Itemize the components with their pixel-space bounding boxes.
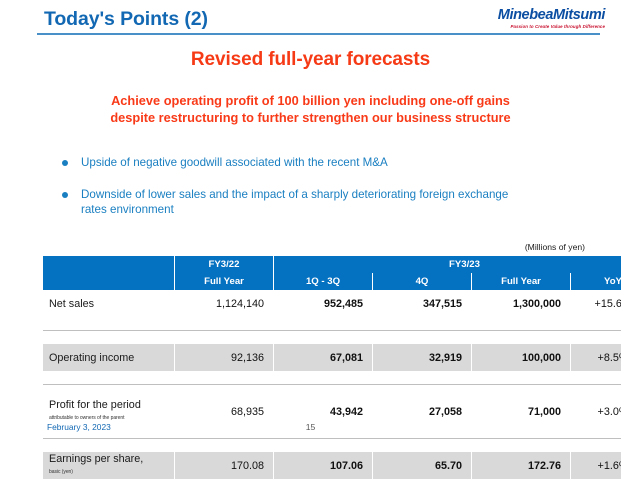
- table-body: Net sales 1,124,140 952,485 347,515 1,30…: [43, 290, 621, 479]
- row-label: Profit for the period attributable to ow…: [43, 398, 174, 425]
- table-row-separator: [43, 317, 621, 344]
- bullet-text: Downside of lower sales and the impact o…: [81, 187, 536, 218]
- row-label-text: Earnings per share,: [49, 453, 143, 465]
- cell-fy23-full-year: 100,000: [472, 344, 570, 371]
- column-header-fy22-group: FY3/22: [175, 256, 273, 273]
- company-logo: MinebeaMitsumi Passion to Create Value t…: [498, 8, 605, 29]
- bullet-list: Upside of negative goodwill associated w…: [62, 155, 562, 234]
- row-label-text: Net sales: [49, 298, 94, 310]
- row-label: Net sales: [43, 290, 174, 317]
- row-label-text: Profit for the period: [49, 399, 141, 411]
- column-header-blank: [43, 256, 174, 290]
- cell-fy22-full-year: 92,136: [175, 344, 273, 371]
- column-header-fy22-full-year: Full Year: [175, 273, 273, 290]
- footer-page-number: 15: [0, 422, 621, 432]
- row-label: Earnings per share, basic (yen): [43, 452, 174, 479]
- title-divider: [37, 33, 600, 35]
- main-heading: Revised full-year forecasts: [0, 49, 621, 71]
- cell-fy22-full-year: 1,124,140: [175, 290, 273, 317]
- slide: Today's Points (2) MinebeaMitsumi Passio…: [0, 0, 621, 438]
- sub-heading-line-1: Achieve operating profit of 100 billion …: [111, 93, 510, 108]
- cell-yoy: +1.6%: [571, 452, 621, 479]
- cell-fy23-4q: 32,919: [373, 344, 471, 371]
- column-header-1q-3q: 1Q - 3Q: [274, 273, 372, 290]
- cell-fy23-1q-3q: 43,942: [274, 398, 372, 425]
- cell-fy23-4q: 27,058: [373, 398, 471, 425]
- sub-heading-line-2: despite restructuring to further strengt…: [0, 109, 621, 126]
- bullet-dot-icon: [62, 160, 68, 166]
- table-row: Operating income 92,136 67,081 32,919 10…: [43, 344, 621, 371]
- cell-fy23-1q-3q: 67,081: [274, 344, 372, 371]
- page-title: Today's Points (2): [44, 8, 208, 31]
- cell-yoy: +15.6%: [571, 290, 621, 317]
- table-row: Earnings per share, basic (yen) 170.08 1…: [43, 452, 621, 479]
- cell-fy22-full-year: 170.08: [175, 452, 273, 479]
- table-row: Net sales 1,124,140 952,485 347,515 1,30…: [43, 290, 621, 317]
- units-label: (Millions of yen): [525, 242, 585, 252]
- cell-fy23-full-year: 172.76: [472, 452, 570, 479]
- row-label: Operating income: [43, 344, 174, 371]
- bullet-dot-icon: [62, 192, 68, 198]
- column-header-full-year: Full Year: [472, 273, 570, 290]
- row-label-text: Operating income: [49, 352, 134, 364]
- logo-tagline: Passion to Create Value through Differen…: [498, 25, 605, 29]
- slide-header: Today's Points (2) MinebeaMitsumi Passio…: [0, 0, 621, 38]
- cell-yoy: +8.5%: [571, 344, 621, 371]
- bullet-text: Upside of negative goodwill associated w…: [81, 155, 388, 171]
- table-row: Profit for the period attributable to ow…: [43, 398, 621, 425]
- cell-fy23-4q: 65.70: [373, 452, 471, 479]
- cell-yoy: +3.0%: [571, 398, 621, 425]
- cell-fy23-1q-3q: 107.06: [274, 452, 372, 479]
- cell-fy22-full-year: 68,935: [175, 398, 273, 425]
- column-header-fy23-group: FY3/23: [274, 256, 621, 273]
- table-header: FY3/22 FY3/23 Full Year 1Q - 3Q 4Q Full …: [43, 256, 621, 290]
- financial-table: FY3/22 FY3/23 Full Year 1Q - 3Q 4Q Full …: [42, 256, 585, 479]
- list-item: Downside of lower sales and the impact o…: [62, 187, 562, 218]
- table-row-separator: [43, 371, 621, 398]
- cell-fy23-full-year: 1,300,000: [472, 290, 570, 317]
- sub-heading: Achieve operating profit of 100 billion …: [0, 92, 621, 126]
- column-header-yoy: YoY: [571, 273, 621, 290]
- list-item: Upside of negative goodwill associated w…: [62, 155, 562, 171]
- cell-fy23-1q-3q: 952,485: [274, 290, 372, 317]
- column-header-4q: 4Q: [373, 273, 471, 290]
- row-sublabel-text: basic (yen): [49, 466, 174, 478]
- logo-wordmark: MinebeaMitsumi: [498, 8, 605, 23]
- cell-fy23-4q: 347,515: [373, 290, 471, 317]
- cell-fy23-full-year: 71,000: [472, 398, 570, 425]
